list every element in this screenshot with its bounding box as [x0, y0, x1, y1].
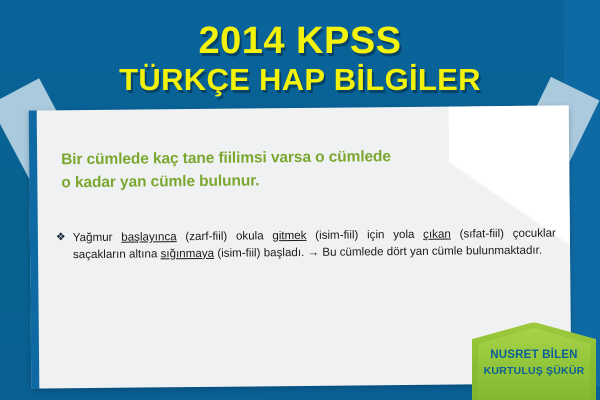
badge-author-subtitle: KURTULUŞ ŞÜKÜR	[472, 364, 596, 378]
slide-title: 2014 KPSS TÜRKÇE HAP BİLGİLER	[0, 22, 600, 95]
verbal-term: sığınmaya	[161, 247, 215, 261]
bullet-diamond-icon: ❖	[56, 230, 66, 264]
example-text-run: (isim-fiil) için yola	[306, 228, 423, 242]
author-badge: NUSRET BİLEN KURTULUŞ ŞÜKÜR	[472, 322, 596, 400]
example-text-run: (isim-fiil) başladı. → Bu cümlede dört y…	[214, 243, 542, 259]
example-text-run: Yağmur	[73, 231, 122, 244]
title-line-2: TÜRKÇE HAP BİLGİLER	[0, 64, 600, 95]
card-left-accent-bar	[29, 111, 40, 389]
verbal-term: çıkan	[423, 228, 451, 241]
title-line-1: 2014 KPSS	[0, 22, 600, 60]
verbal-term: başlayınca	[121, 230, 177, 244]
example-text: Yağmur başlayınca (zarf-fiil) okula gitm…	[73, 226, 556, 264]
lead-line-2: o kadar yan cümle bulunur.	[61, 167, 531, 195]
slide-canvas: 2014 KPSS TÜRKÇE HAP BİLGİLER Bir cümled…	[0, 0, 600, 400]
verbal-term: gitmek	[272, 229, 306, 242]
card-fold-highlight-icon	[449, 105, 571, 336]
lead-statement: Bir cümlede kaç tane fiilimsi varsa o cü…	[61, 144, 531, 195]
badge-author-name: NUSRET BİLEN	[472, 348, 596, 364]
example-item: ❖ Yağmur başlayınca (zarf-fiil) okula gi…	[56, 226, 556, 264]
example-text-run: (zarf-fiil) okula	[177, 229, 273, 243]
badge-text-group: NUSRET BİLEN KURTULUŞ ŞÜKÜR	[472, 348, 596, 378]
